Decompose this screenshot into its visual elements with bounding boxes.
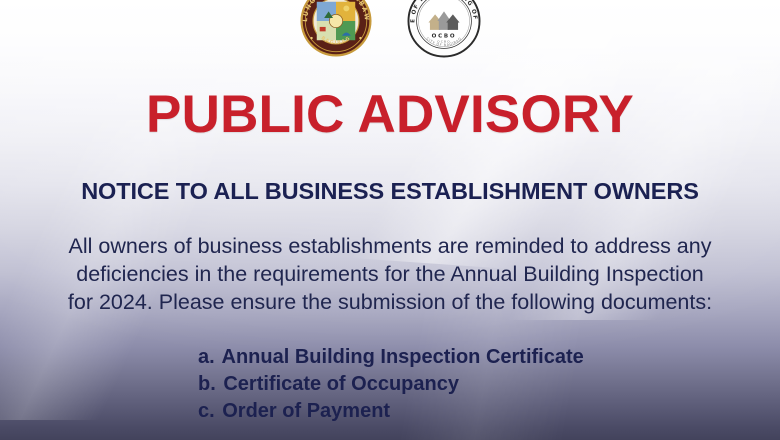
list-item: a. Annual Building Inspection Certificat…	[198, 344, 584, 371]
building-official-seal: OCBO OCBO OFFICE OF THE BUILDING OFFICIA…	[407, 0, 481, 63]
list-item-marker: c.	[198, 400, 215, 422]
city-seal: LUNGSOD NG ABAW BAGIRAG	[299, 0, 373, 63]
seal-row: LUNGSOD NG ABAW BAGIRAG	[0, 0, 780, 63]
list-item-marker: a.	[198, 346, 215, 368]
notice-subheading: NOTICE TO ALL BUSINESS ESTABLISHMENT OWN…	[0, 180, 780, 204]
list-item-label: Order of Payment	[222, 400, 390, 422]
advisory-body-text: All owners of business establishments ar…	[62, 232, 718, 316]
public-advisory-poster: LUNGSOD NG ABAW BAGIRAG	[0, 0, 780, 440]
svg-text:OCBO: OCBO	[432, 33, 457, 39]
list-item-label: Annual Building Inspection Certificate	[222, 346, 584, 368]
list-item: c. Order of Payment	[198, 398, 584, 425]
list-item-marker: b.	[198, 373, 216, 395]
list-item-label: Certificate of Occupancy	[223, 373, 459, 395]
required-documents-list: a. Annual Building Inspection Certificat…	[198, 344, 584, 425]
list-item: b. Certificate of Occupancy	[198, 371, 584, 398]
page-title: PUBLIC ADVISORY	[0, 88, 780, 141]
